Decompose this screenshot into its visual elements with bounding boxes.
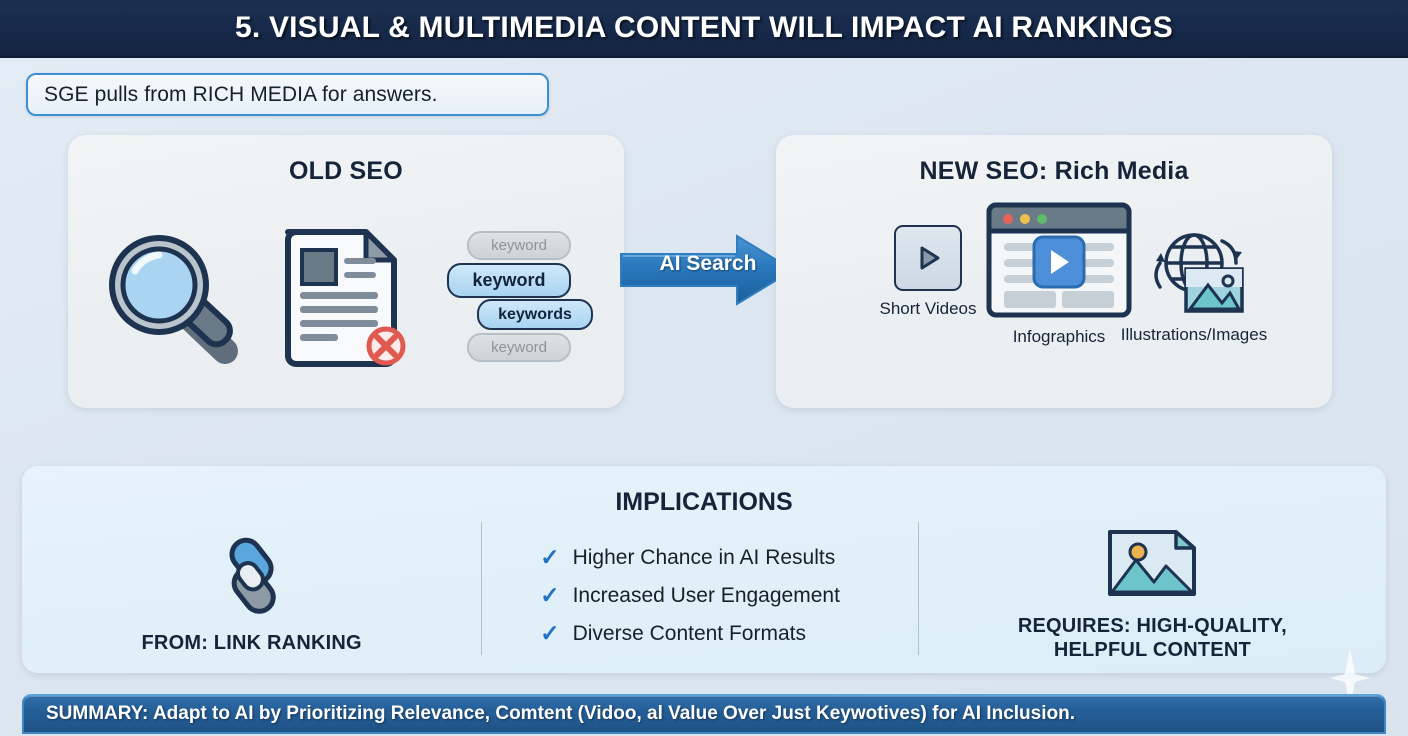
ai-search-arrow: AI Search bbox=[617, 232, 797, 308]
chain-link-icon bbox=[206, 535, 298, 620]
check-icon: ✓ bbox=[540, 622, 559, 645]
rich-media-items: Short Videos bbox=[776, 197, 1332, 402]
implications-from-column: FROM: LINK RANKING bbox=[22, 518, 481, 673]
checklist-item: ✓ Higher Chance in AI Results bbox=[540, 546, 917, 570]
old-seo-title: OLD SEO bbox=[68, 157, 624, 186]
old-seo-panel: OLD SEO bbox=[68, 135, 624, 408]
check-icon: ✓ bbox=[540, 584, 559, 607]
requires-caption-line1: REQUIRES: HIGH-QUALITY, bbox=[1018, 615, 1287, 639]
keyword-bubble: keyword bbox=[467, 231, 571, 260]
play-button-icon bbox=[894, 225, 962, 291]
keyword-bubble: keyword bbox=[447, 263, 571, 298]
new-seo-panel: NEW SEO: Rich Media Short Videos bbox=[776, 135, 1332, 408]
rich-media-item-illustrations: Illustrations/Images bbox=[1094, 225, 1294, 345]
callout-banner: SGE pulls from RICH MEDIA for answers. bbox=[26, 73, 549, 116]
checklist-item: ✓ Increased User Engagement bbox=[540, 584, 917, 608]
image-placeholder-icon bbox=[1106, 528, 1198, 603]
magnifying-glass-icon bbox=[97, 227, 247, 367]
checklist-label: Higher Chance in AI Results bbox=[573, 546, 836, 570]
check-icon: ✓ bbox=[540, 546, 559, 569]
implications-from-caption: FROM: LINK RANKING bbox=[142, 632, 362, 656]
keyword-bubble: keyword bbox=[467, 333, 571, 362]
old-seo-icon-row: keyword keyword keywords keyword bbox=[68, 207, 624, 387]
new-seo-title: NEW SEO: Rich Media bbox=[776, 157, 1332, 186]
summary-bar: SUMMARY: Adapt to AI by Prioritizing Rel… bbox=[22, 694, 1386, 734]
checklist-item: ✓ Diverse Content Formats bbox=[540, 622, 917, 646]
page-title: 5. VISUAL & MULTIMEDIA CONTENT WILL IMPA… bbox=[235, 11, 1173, 45]
checklist-label: Increased User Engagement bbox=[573, 584, 840, 608]
implications-requires-caption: REQUIRES: HIGH-QUALITY, HELPFUL CONTENT bbox=[1018, 615, 1287, 662]
keyword-bubbles-icon: keyword keyword keywords keyword bbox=[445, 227, 595, 367]
implications-requires-column: REQUIRES: HIGH-QUALITY, HELPFUL CONTENT bbox=[919, 518, 1386, 673]
keyword-bubble: keywords bbox=[477, 299, 593, 330]
callout-text: SGE pulls from RICH MEDIA for answers. bbox=[44, 83, 438, 107]
implications-title: IMPLICATIONS bbox=[22, 488, 1386, 517]
implications-columns: FROM: LINK RANKING ✓ Higher Chance in AI… bbox=[22, 518, 1386, 673]
globe-image-icon bbox=[1094, 225, 1294, 317]
implications-checklist: ✓ Higher Chance in AI Results ✓ Increase… bbox=[482, 518, 917, 673]
requires-caption-line2: HELPFUL CONTENT bbox=[1018, 639, 1287, 663]
rejected-badge-icon bbox=[369, 329, 403, 363]
page-header: 5. VISUAL & MULTIMEDIA CONTENT WILL IMPA… bbox=[0, 0, 1408, 58]
rich-media-label: Illustrations/Images bbox=[1094, 325, 1294, 345]
document-rejected-icon bbox=[276, 222, 416, 372]
checklist-label: Diverse Content Formats bbox=[573, 622, 806, 646]
summary-text: SUMMARY: Adapt to AI by Prioritizing Rel… bbox=[46, 703, 1075, 725]
implications-section: IMPLICATIONS FROM: LINK RANKING ✓ Higher bbox=[22, 466, 1386, 673]
